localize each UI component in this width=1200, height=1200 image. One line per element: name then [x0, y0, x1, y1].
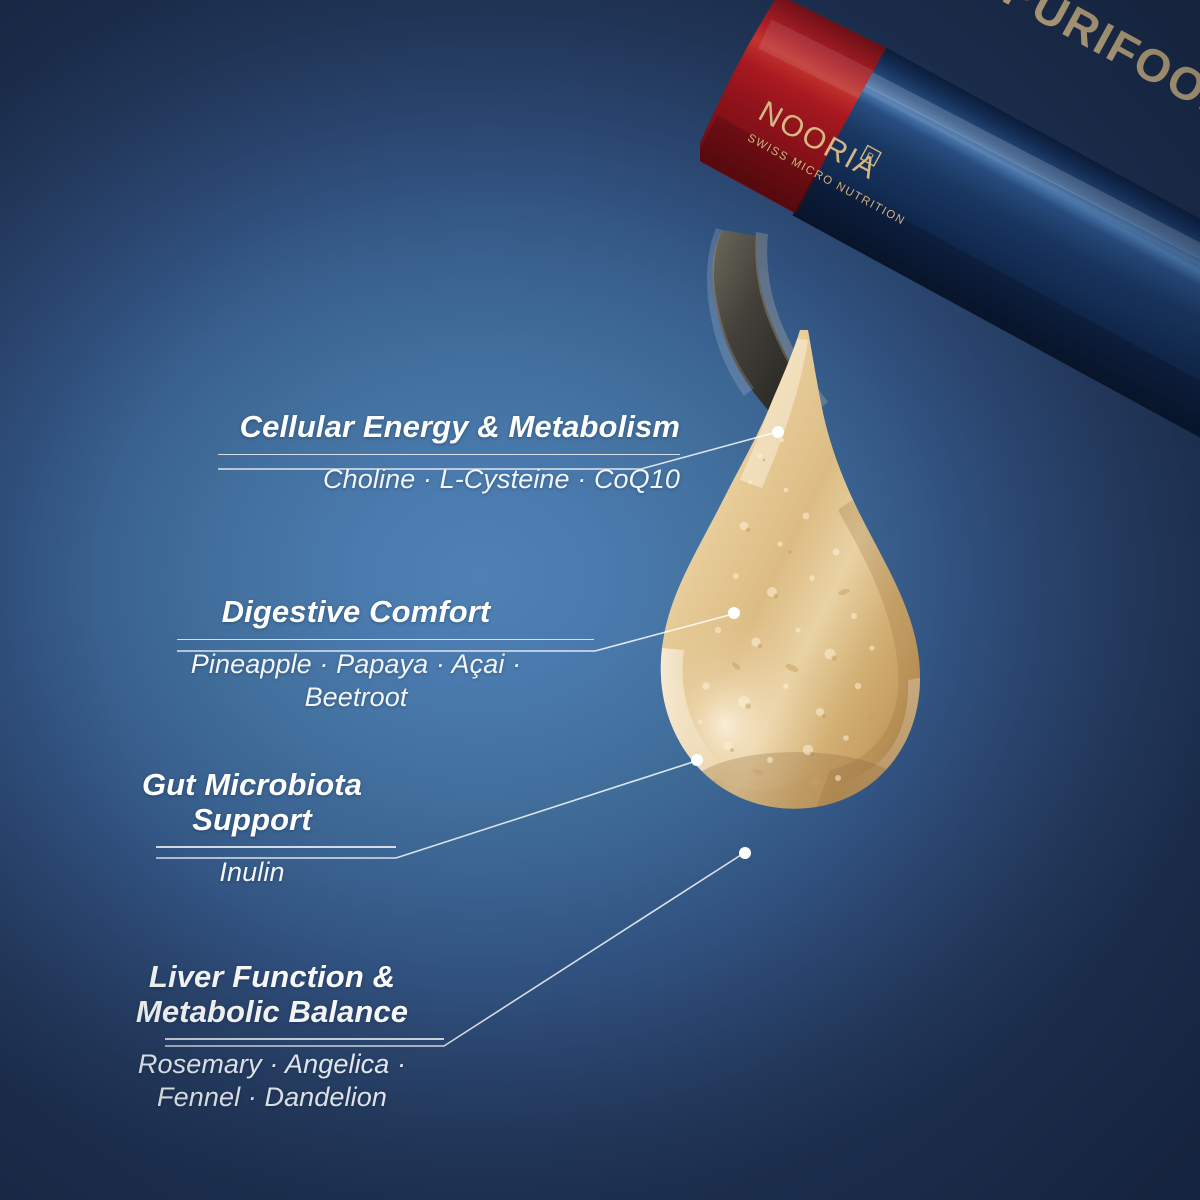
sachet-opening [707, 228, 828, 436]
callout-title: Digestive Comfort [118, 595, 594, 630]
golden-liquid-droplet [640, 330, 980, 890]
callout-divider [218, 454, 680, 456]
callout-divider [165, 1038, 444, 1040]
callout-title: Gut Microbiota Support [108, 768, 396, 837]
callout-gut-microbiota: Gut Microbiota Support Inulin [108, 768, 396, 889]
callout-title: Liver Function & Metabolic Balance [100, 960, 444, 1029]
brand-tagline-text: SWISS MICRO NUTRITION [745, 132, 907, 228]
product-infographic: PURIFOOR FO NOORIA R SWISS MICRO NUTRITI… [0, 0, 1200, 1200]
callout-cellular-energy: Cellular Energy & Metabolism Choline · L… [120, 410, 680, 496]
brand-name-text: NOORIA [753, 95, 883, 186]
callout-title: Cellular Energy & Metabolism [120, 410, 680, 445]
connector-dot-3 [691, 754, 703, 766]
callout-divider [177, 639, 594, 641]
callout-liver-function: Liver Function & Metabolic Balance Rosem… [100, 960, 444, 1114]
callout-divider [156, 846, 396, 848]
sachet-package: PURIFOOR FO NOORIA R SWISS MICRO NUTRITI… [700, 0, 1200, 500]
callout-items: Inulin [108, 856, 396, 889]
callout-items: Choline · L-Cysteine · CoQ10 [120, 463, 680, 496]
callout-items: Pineapple · Papaya · Açai · Beetroot [118, 648, 594, 714]
connector-dot-4 [739, 847, 751, 859]
registered-mark-icon: R [864, 151, 876, 164]
callout-items: Rosemary · Angelica · Fennel · Dandelion [100, 1048, 444, 1114]
product-name-text: PURIFOOR FO [995, 0, 1200, 172]
callout-digestive-comfort: Digestive Comfort Pineapple · Papaya · A… [118, 595, 594, 714]
connector-dot-2 [728, 607, 740, 619]
connector-dot-1 [772, 426, 784, 438]
